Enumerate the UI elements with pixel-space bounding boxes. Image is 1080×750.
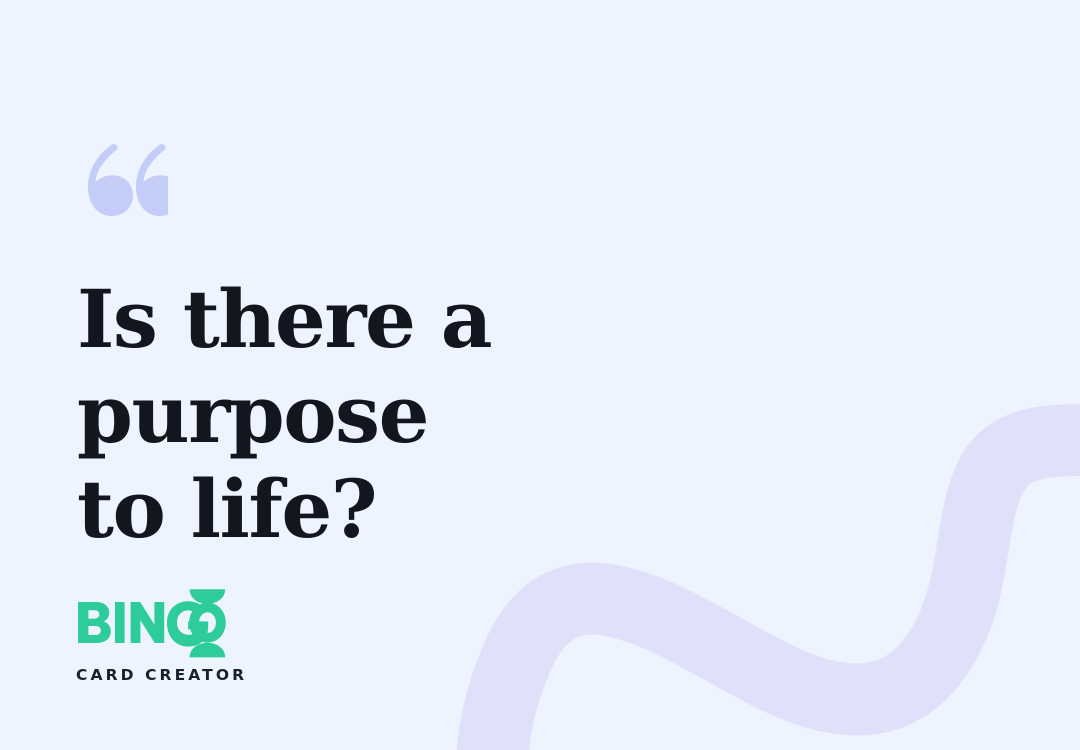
logo-letter-n bbox=[131, 602, 165, 643]
quote-headline: Is there a purpose to life? bbox=[77, 272, 777, 557]
logo-tagline: CARD CREATOR bbox=[76, 666, 306, 684]
logo-letter-i bbox=[115, 602, 125, 643]
quote-mark-icon bbox=[76, 142, 168, 216]
logo-ornament-top-icon bbox=[190, 589, 226, 604]
bingo-wordmark-icon bbox=[76, 588, 228, 660]
quote-mark-left-glyph bbox=[88, 144, 133, 216]
quote-mark-right-glyph bbox=[136, 144, 168, 216]
quote-card: Is there a purpose to life? CARD CREATO bbox=[0, 0, 1080, 750]
brand-logo: CARD CREATOR bbox=[76, 588, 306, 684]
logo-letter-b bbox=[78, 602, 111, 643]
